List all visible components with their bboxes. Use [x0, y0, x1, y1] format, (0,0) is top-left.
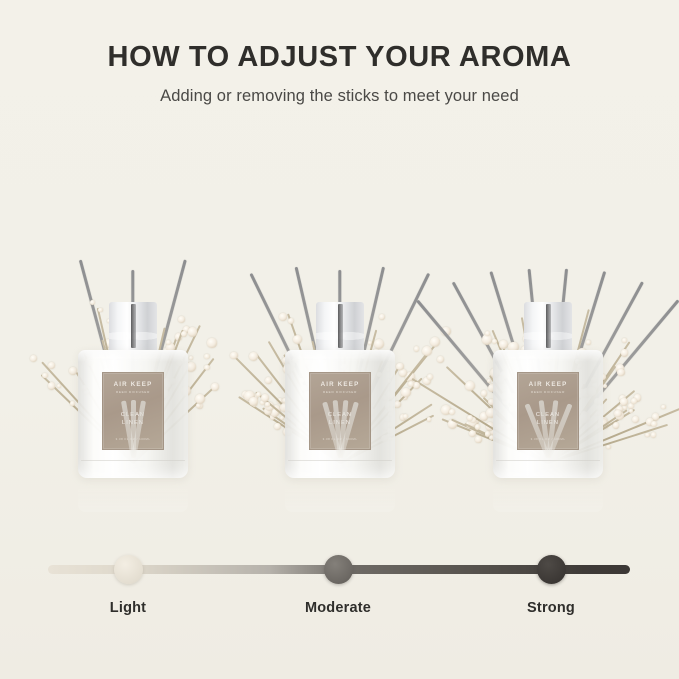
product-light: AIR KEEP REED DIFFUSER CLEANLINEN 3.38 F… [23, 118, 243, 518]
flower-bloom [249, 352, 258, 361]
flower-bloom [413, 382, 420, 389]
bottle-body: AIR KEEP REED DIFFUSER CLEANLINEN 3.38 F… [493, 350, 603, 478]
slider-label-moderate: Moderate [305, 600, 371, 616]
flower-bloom [475, 424, 480, 429]
product-strong: AIR KEEP REED DIFFUSER CLEANLINEN 3.38 F… [438, 118, 658, 518]
flower-bloom [632, 416, 639, 423]
flower-bloom [629, 409, 633, 413]
bottle-footline [288, 460, 392, 462]
neck-emboss [316, 328, 364, 344]
flower-bloom [30, 355, 38, 363]
flower-bloom [437, 356, 444, 363]
neck-emboss [109, 328, 157, 344]
flower-bloom [482, 334, 492, 344]
flower-bloom [396, 363, 404, 371]
flower-bloom [70, 401, 75, 406]
flower-bloom [617, 369, 625, 377]
slider-label-strong: Strong [527, 600, 575, 616]
bottle-light: AIR KEEP REED DIFFUSER CLEANLINEN 3.38 F… [78, 302, 188, 478]
header: HOW TO ADJUST YOUR AROMA Adding or remov… [0, 42, 679, 106]
bottle-shoulder [285, 350, 395, 362]
flower-bloom [401, 388, 411, 398]
slider-label-light: Light [110, 600, 146, 616]
brand-name: AIR KEEP [529, 382, 568, 388]
bottle-footline [496, 460, 600, 462]
infographic-canvas: HOW TO ADJUST YOUR AROMA Adding or remov… [0, 0, 679, 679]
flower-bloom [48, 382, 55, 389]
bottle-shoulder [78, 350, 188, 362]
bottle-neck [109, 302, 157, 350]
brand-name: AIR KEEP [114, 382, 153, 388]
flower-bloom [196, 403, 201, 408]
flower-bloom [620, 398, 628, 406]
flower-bloom [204, 365, 210, 371]
flower-bloom [475, 436, 481, 442]
slider-handle-moderate[interactable] [324, 555, 353, 584]
flower-bloom [265, 377, 272, 384]
flower-bloom [487, 379, 491, 383]
flower-bloom [422, 346, 432, 356]
flower-bloom [195, 394, 205, 404]
brand-subtitle: REED DIFFUSER [531, 391, 565, 394]
bottle-neck [316, 302, 364, 350]
slider-handle-strong[interactable] [537, 555, 566, 584]
flower-bloom [481, 390, 488, 397]
product-row: AIR KEEP REED DIFFUSER CLEANLINEN 3.38 F… [0, 118, 679, 518]
flower-bloom [48, 362, 55, 369]
flower-bloom [261, 394, 269, 402]
neck-emboss [524, 328, 572, 344]
brand-subtitle: REED DIFFUSER [116, 391, 150, 394]
page-title: HOW TO ADJUST YOUR AROMA [0, 42, 679, 74]
flower-bloom [69, 367, 77, 375]
flower-bloom [189, 356, 194, 361]
bottle-body: AIR KEEP REED DIFFUSER CLEANLINEN 3.38 F… [285, 350, 395, 478]
slider-handle-light[interactable] [114, 555, 143, 584]
flower-bloom [606, 445, 611, 450]
flower-bloom [57, 384, 61, 388]
flower-bloom [485, 331, 490, 336]
bottle-strong: AIR KEEP REED DIFFUSER CLEANLINEN 3.38 F… [493, 302, 603, 478]
flower-bloom [603, 384, 607, 388]
flower-bloom [427, 374, 433, 380]
flower-bloom [661, 405, 666, 410]
bottle-footline [81, 460, 185, 462]
flower-bloom [399, 369, 407, 377]
flower-bloom [414, 346, 420, 352]
bottle-reflection [493, 474, 603, 512]
flower-bloom [628, 403, 634, 409]
bottle-reflection [78, 474, 188, 512]
flower-bloom [204, 354, 210, 360]
flower-bloom [249, 397, 258, 406]
bottle-shoulder [493, 350, 603, 362]
flower-bloom [621, 349, 628, 356]
flower-bloom [274, 423, 281, 430]
page-subtitle: Adding or removing the sticks to meet yo… [0, 87, 679, 106]
flower-bloom [651, 421, 657, 427]
flower-bloom [211, 383, 218, 390]
bottle-neck [524, 302, 572, 350]
flower-bloom [207, 338, 216, 347]
flower-bloom [427, 417, 432, 422]
flower-bloom [230, 352, 237, 359]
flower-bloom [449, 409, 455, 415]
flower-bloom [408, 381, 414, 387]
brand-subtitle: REED DIFFUSER [323, 391, 357, 394]
flower-bloom [280, 416, 284, 420]
flower-bloom [42, 373, 48, 379]
bottle-body: AIR KEEP REED DIFFUSER CLEANLINEN 3.38 F… [78, 350, 188, 478]
flower-bloom [188, 327, 198, 337]
bottle-moderate: AIR KEEP REED DIFFUSER CLEANLINEN 3.38 F… [285, 302, 395, 478]
brand-name: AIR KEEP [321, 382, 360, 388]
flower-bloom [467, 415, 473, 421]
product-moderate: AIR KEEP REED DIFFUSER CLEANLINEN 3.38 F… [230, 118, 450, 518]
bottle-reflection [285, 474, 395, 512]
intensity-slider[interactable]: LightModerateStrong [0, 552, 679, 622]
flower-bloom [622, 338, 626, 342]
flower-bloom [613, 422, 620, 429]
flower-bloom [265, 402, 269, 406]
flower-bloom [651, 432, 656, 437]
flower-bloom [645, 433, 650, 438]
flower-bloom [465, 381, 475, 391]
flower-bloom [631, 398, 637, 404]
